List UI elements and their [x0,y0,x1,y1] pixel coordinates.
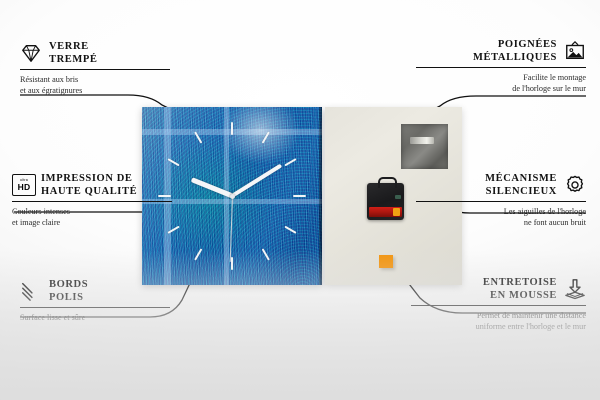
hanger-slot [410,137,434,144]
arrow-down-stack-icon [564,278,586,300]
callout-subtitle: Permet de maintenir une distance uniform… [411,310,586,332]
framed-picture-icon [564,40,586,62]
hour-marker [231,122,233,196]
metal-hanger-plate [401,124,448,169]
infographic-canvas: VERRE TREMPÉ Résistant aux bris et aux é… [0,0,600,400]
mechanism-loop [378,177,397,188]
callout-title: IMPRESSION DE HAUTE QUALITÉ [41,172,137,198]
callout-bords-polis: BORDS POLIS Surface lisse et sûre [20,278,170,323]
polished-edges-icon [20,280,42,302]
hand-cap [230,194,235,199]
callout-poignees-metalliques: POIGNÉES MÉTALLIQUES Facilite le montage… [416,38,586,94]
callout-subtitle: Les aiguilles de l'horloge ne font aucun… [416,206,586,228]
foam-spacer [379,255,393,268]
ultra-hd-large-text: HD [18,183,31,192]
product-image [142,107,462,285]
clock-mechanism [367,183,404,220]
diamond-icon [20,42,42,64]
callout-impression-haute-qualite: ultra HD IMPRESSION DE HAUTE QUALITÉ Cou… [12,172,172,228]
hour-marker [232,195,306,197]
callout-divider [20,69,170,70]
callout-divider [20,307,170,308]
callout-mecanisme-silencieux: MÉCANISME SILENCIEUX Les aiguilles de l'… [416,172,586,228]
callout-title: VERRE TREMPÉ [49,40,98,66]
callout-title: POIGNÉES MÉTALLIQUES [473,38,557,64]
callout-divider [416,201,586,202]
callout-title: ENTRETOISE EN MOUSSE [483,276,557,302]
hour-marker [167,195,232,234]
callout-entretoise-en-mousse: ENTRETOISE EN MOUSSE Permet de maintenir… [411,276,586,332]
gear-icon [564,174,586,196]
callout-subtitle: Couleurs intenses et image claire [12,206,172,228]
callout-subtitle: Surface lisse et sûre [20,312,170,323]
callout-subtitle: Facilite le montage de l'horloge sur le … [416,72,586,94]
callout-divider [411,305,586,306]
callout-title: BORDS POLIS [49,278,88,304]
mechanism-dial [395,195,401,199]
callout-subtitle: Résistant aux bris et aux égratignures [20,74,170,96]
panel-edge [319,107,322,285]
ultra-hd-icon: ultra HD [12,174,34,196]
callout-title: MÉCANISME SILENCIEUX [485,172,557,198]
callout-verre-trempe: VERRE TREMPÉ Résistant aux bris et aux é… [20,40,170,96]
callout-divider [416,67,586,68]
callout-divider [12,201,172,202]
battery [369,207,402,217]
